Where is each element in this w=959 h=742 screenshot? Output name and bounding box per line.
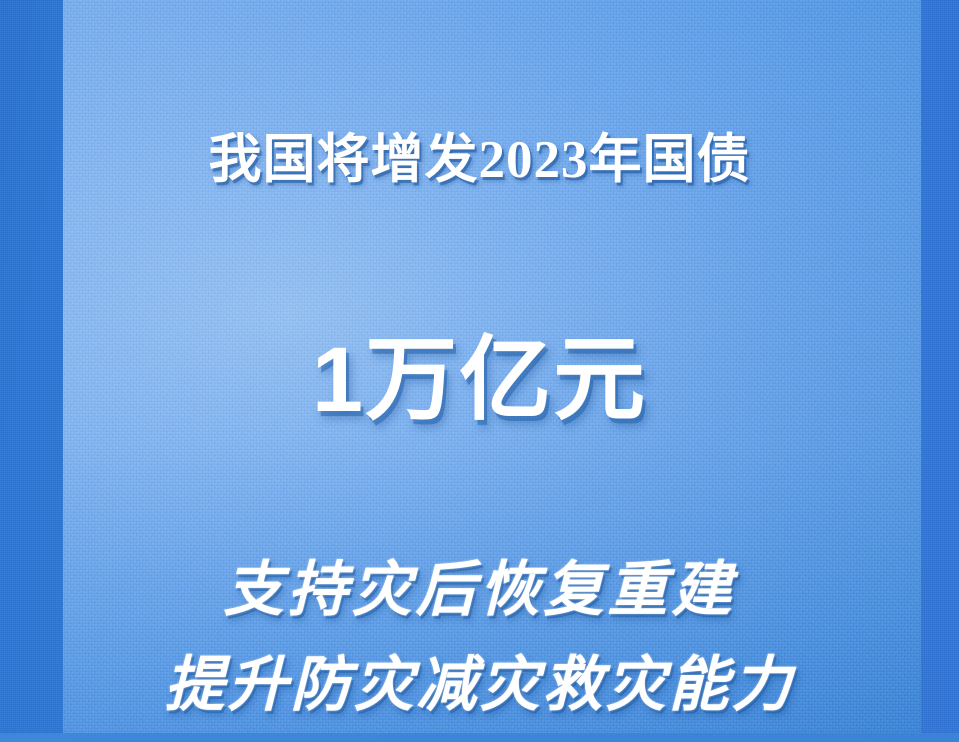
news-poster: 我国将增发2023年国债 1万亿元 支持灾后恢复重建 提升防灾减灾救灾能力 [0, 0, 959, 742]
subtitle-line-1: 支持灾后恢复重建 [0, 557, 959, 623]
page-title: 我国将增发2023年国债 [0, 131, 959, 190]
headline-figure-amount: 1万亿元 [0, 332, 959, 429]
poster-content: 我国将增发2023年国债 1万亿元 支持灾后恢复重建 提升防灾减灾救灾能力 [0, 0, 959, 742]
subtitle-line-2: 提升防灾减灾救灾能力 [0, 652, 959, 718]
